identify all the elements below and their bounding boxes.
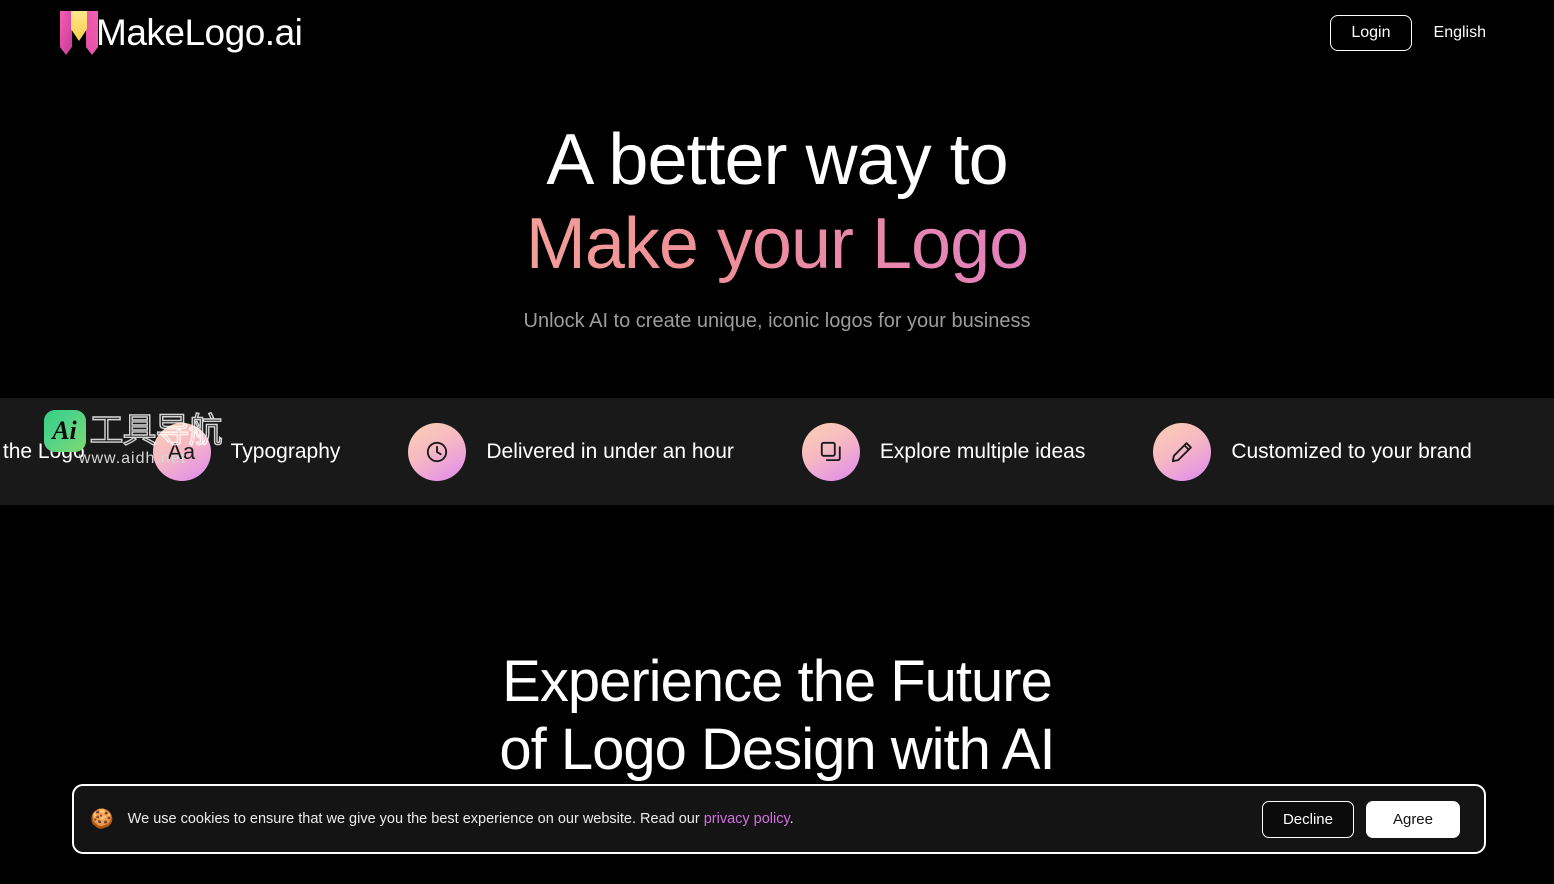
feature-item-multiple-ideas[interactable]: Explore multiple ideas: [802, 423, 1085, 481]
landing-page: MakeLogo.ai Login English A better way t…: [0, 0, 1554, 884]
language-selector[interactable]: English: [1430, 18, 1490, 48]
feature-label: Customized to your brand: [1231, 440, 1471, 464]
hero-subheadline: Unlock AI to create unique, iconic logos…: [0, 310, 1554, 333]
privacy-policy-link[interactable]: privacy policy: [704, 811, 790, 827]
cookie-actions: Decline Agree: [1262, 801, 1460, 838]
header-actions: Login English: [1330, 15, 1490, 51]
feature-item-delivery-time[interactable]: Delivered in under an hour: [408, 423, 734, 481]
cookie-consent-banner: 🍪 We use cookies to ensure that we give …: [72, 784, 1486, 854]
cookie-message-part2: .: [790, 811, 794, 827]
feature-label: Delivered in under an hour: [486, 440, 734, 464]
pencil-edit-icon: [1153, 423, 1211, 481]
hero-headline-line1: A better way to: [0, 118, 1554, 202]
clock-icon: [408, 423, 466, 481]
hero-headline-line2: Make your Logo: [0, 202, 1554, 286]
feature-item-customized[interactable]: Customized to your brand: [1153, 423, 1471, 481]
cookie-message: We use cookies to ensure that we give yo…: [128, 811, 794, 827]
section-heading-line2: of Logo Design with AI: [0, 716, 1554, 784]
feature-item-palette[interactable]: Palette: from the Logo: [0, 423, 85, 481]
layers-copy-icon: [802, 423, 860, 481]
feature-label: Palette: from the Logo: [0, 440, 85, 464]
cookie-message-part1: We use cookies to ensure that we give yo…: [128, 811, 704, 827]
feature-item-typography[interactable]: Aa Typography: [153, 423, 341, 481]
feature-marquee-strip: Palette: from the Logo Aa Typography Del…: [0, 398, 1554, 505]
agree-button[interactable]: Agree: [1366, 801, 1460, 838]
section-heading-line1: Experience the Future: [0, 648, 1554, 716]
hero-section: A better way to Make your Logo Unlock AI…: [0, 118, 1554, 333]
cookie-icon: 🍪: [90, 810, 114, 829]
feature-list: Palette: from the Logo Aa Typography Del…: [0, 423, 1472, 481]
site-header: MakeLogo.ai Login English: [0, 0, 1554, 66]
brand-logo[interactable]: MakeLogo.ai: [60, 11, 302, 55]
brand-name: MakeLogo.ai: [96, 12, 302, 54]
feature-label: Typography: [231, 440, 341, 464]
makelogo-m-mark-icon: [60, 11, 98, 55]
decline-button[interactable]: Decline: [1262, 801, 1354, 838]
login-button[interactable]: Login: [1330, 15, 1411, 51]
cookie-message-group: 🍪 We use cookies to ensure that we give …: [90, 810, 794, 829]
feature-label: Explore multiple ideas: [880, 440, 1085, 464]
typography-aa-icon: Aa: [153, 423, 211, 481]
